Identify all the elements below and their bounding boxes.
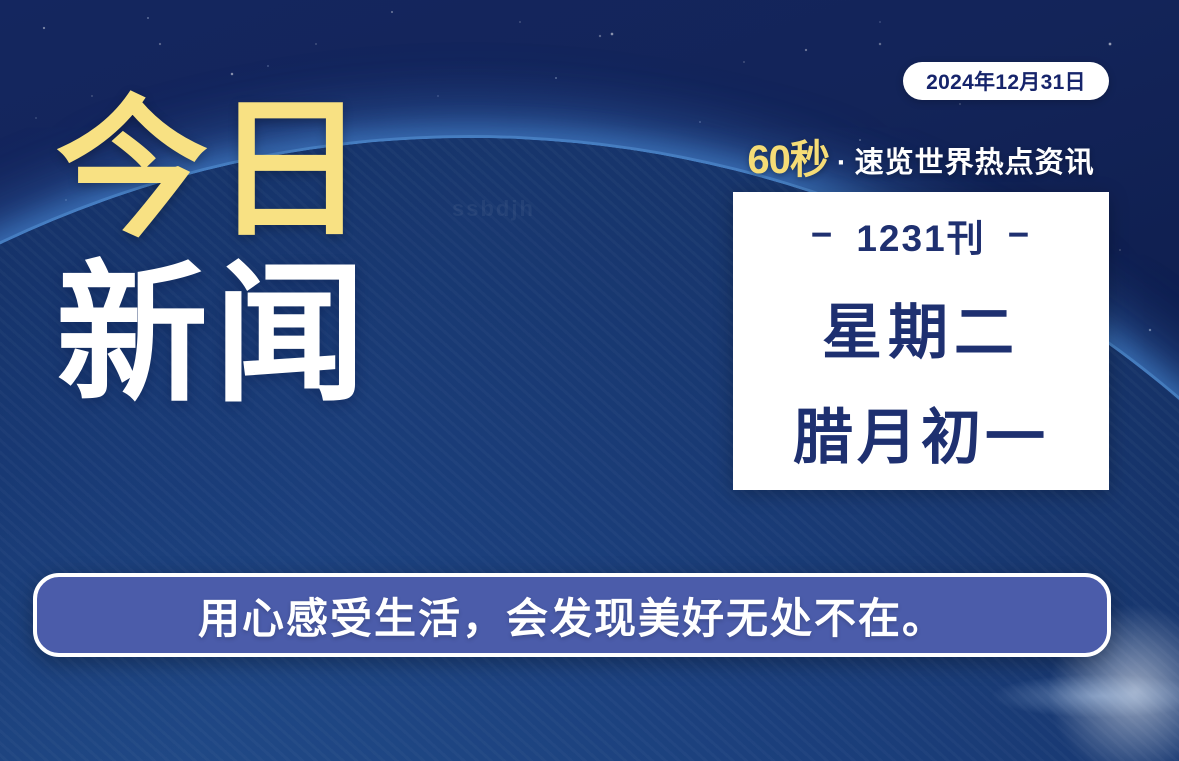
issue-info-card: − 1231刊 − 星期二 腊月初一 <box>733 192 1109 490</box>
weekday-label: 星期二 <box>822 284 1020 371</box>
tagline-separator: · <box>831 149 853 180</box>
right-column: 2024年12月31日 60秒 · 速览世界热点资讯 − 1231刊 − 星期二… <box>733 62 1109 490</box>
quote-bar: 用心感受生活，会发现美好无处不在。 <box>33 573 1111 657</box>
issue-number: 1231刊 <box>856 208 985 262</box>
lunar-date-label: 腊月初一 <box>793 389 1049 476</box>
date-badge: 2024年12月31日 <box>903 62 1109 100</box>
title-line-news: 新闻 <box>56 261 476 410</box>
tagline-highlight: 60秒 <box>747 140 829 180</box>
issue-number-row: − 1231刊 − <box>811 208 1032 262</box>
quote-text: 用心感受生活，会发现美好无处不在。 <box>198 585 946 646</box>
tagline-row: 60秒 · 速览世界热点资讯 <box>733 134 1109 180</box>
poster-title: 今日 新闻 <box>56 96 476 410</box>
issue-dash-left: − <box>811 214 835 256</box>
news-poster-canvas: ssbdjh 今日 新闻 2024年12月31日 60秒 · 速览世界热点资讯 … <box>0 0 1179 761</box>
tagline-rest: 速览世界热点资讯 <box>855 149 1095 180</box>
issue-dash-right: − <box>1008 214 1032 256</box>
title-line-today: 今日 <box>56 96 476 245</box>
